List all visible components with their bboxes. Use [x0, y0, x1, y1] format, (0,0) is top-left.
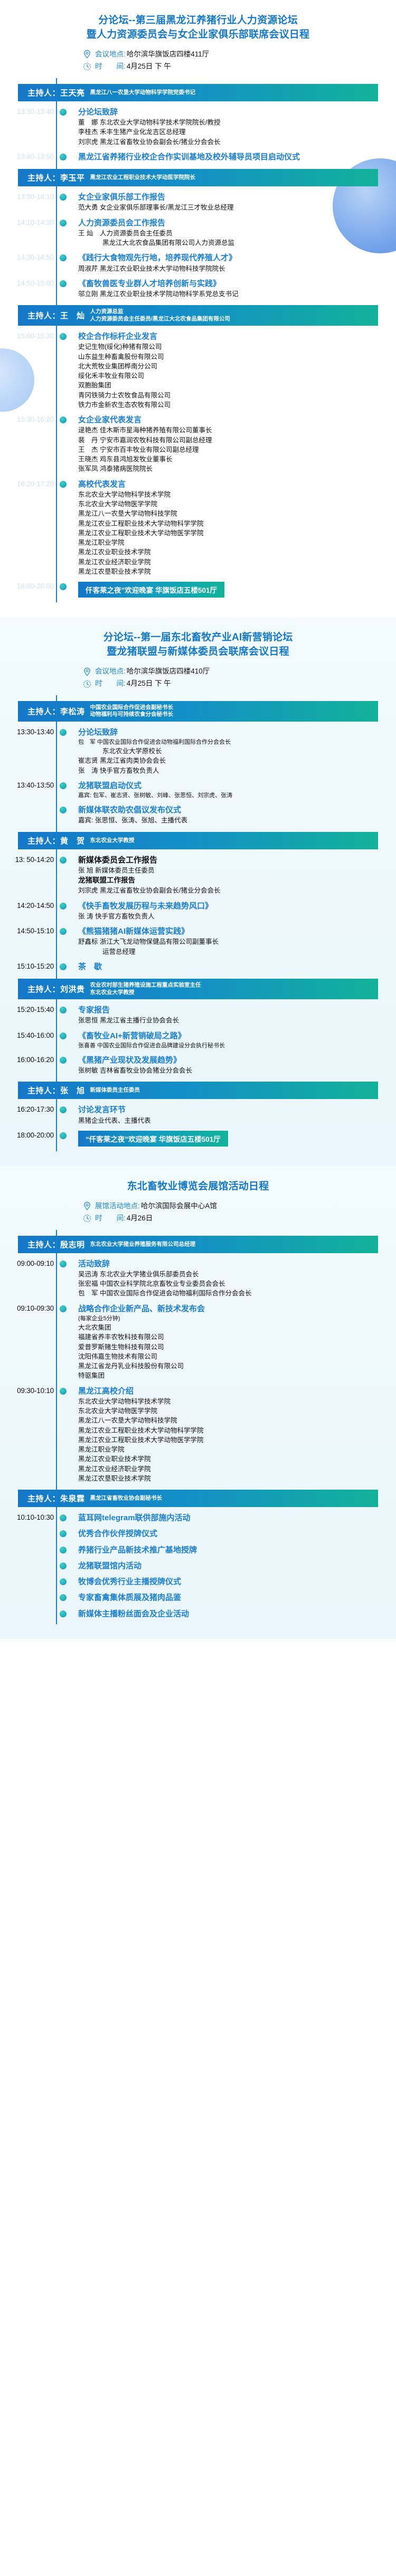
agenda-body: 牧博会优秀行业主播授牌仪式: [78, 1577, 388, 1587]
agenda-speaker: 沈阳伟嘉生物技术有限公司: [78, 1352, 388, 1361]
host-bar: 主持人：朱泉霖黑龙江省畜牧业协会副秘书长: [18, 1490, 378, 1507]
agenda-time: 09:00-09:10: [8, 1259, 54, 1267]
clock-icon: [82, 679, 92, 689]
host-bar: 主持人：刘洪贵农业农村部生猪养殖设施工程重点实验室主任东北农业大学教授: [18, 979, 378, 999]
section-meta: 会议地点:哈尔滨华旗饭店四楼410厅时 间:4月25日 下 午: [0, 665, 396, 695]
host-organization-line: 中国农业国际合作促进会副秘书长: [90, 704, 174, 711]
host-organization: 东北农业大学教授: [90, 837, 135, 844]
agenda-body: 《践行大食物观先行地，培养现代养殖人才》周淑芹 黑龙江农业职业技术大学动物科技学…: [78, 253, 388, 273]
agenda-speaker: 黑龙江八一农垦大学动物科技学院: [78, 509, 388, 518]
agenda-time: 15:30-16:20: [8, 415, 54, 423]
agenda-timeline: 主持人：李松涛中国农业国际合作促进会副秘书长动物福利与可持续农食分会秘书长13:…: [0, 695, 396, 1151]
agenda-speaker: 黑龙江八一农垦大学动物科技学院: [78, 1416, 388, 1425]
agenda-speaker: 黑龙江农垦职业技术学院: [78, 567, 388, 576]
agenda-title: 新媒体委员会工作报告: [78, 855, 388, 866]
agenda-time: 09:10-09:30: [8, 1304, 54, 1312]
agenda-speaker: 北大荒牧业集团桦南分公司: [78, 362, 388, 371]
meta-value: 4月25日 下 午: [127, 61, 171, 73]
agenda-time: 15:10-15:20: [8, 962, 54, 970]
timeline-dot-icon: [60, 280, 67, 287]
agenda-title: 高校代表发言: [78, 479, 388, 490]
agenda-row: 龙猪联盟馆内活动: [8, 1558, 388, 1574]
host-organization-line: 黑龙江农业工程职业技术大学动医学院院长: [90, 174, 196, 181]
section-title-line1: 东北畜牧业博览会展馆活动日程: [12, 1180, 384, 1194]
agenda-speaker: 东北农业大学动物科学技术学院: [78, 490, 388, 499]
agenda-body: 龙猪联盟馆内活动: [78, 1561, 388, 1571]
host-bar: 主持人：黄 贺东北农业大学教授: [18, 832, 378, 849]
agenda-title: 战略合作企业新产品、新技术发布会: [78, 1304, 388, 1314]
host-organization-line: 东北农业大学教授: [90, 837, 135, 844]
agenda-speaker: 张思恒 黑龙江省主播行业协会会长: [78, 1016, 388, 1025]
agenda-body: 蓝耳网telegram联供部施内活动: [78, 1513, 388, 1523]
timeline-dot-icon: [60, 1578, 67, 1585]
agenda-speaker: 东北农业大学动物科学技术学院: [78, 1397, 388, 1406]
agenda-body: 龙猪联盟启动仪式嘉宾: 包军、崔志贤、张树敏、刘峰、张思恒、刘宗虎、张涛: [78, 781, 388, 800]
agenda-speaker: 东北农业大学原校长: [78, 746, 388, 756]
agenda-time: 13:40-13:50: [8, 781, 54, 789]
agenda-body: “仟客莱之夜”欢迎晚宴 华旗饭店五楼501厅: [78, 1131, 388, 1147]
agenda-speaker: 裴 丹 宁安市嘉润农牧科技有限公司副总经理: [78, 435, 388, 445]
host-organization-line: 人力资源委员会主任委员/黑龙江大北农食品集团有限公司: [90, 316, 230, 323]
clock-icon: [82, 61, 92, 72]
agenda-row: 新媒体主播粉丝面会及企业活动: [8, 1606, 388, 1622]
host-organization-line: 黑龙江八一农垦大学动物科学学院党委书记: [90, 89, 196, 96]
timeline-dot-icon: [60, 729, 67, 736]
agenda-speaker: 逯艳杰 佳木斯市星海种猪养殖有限公司董事长: [78, 425, 388, 435]
agenda-speaker: 王晓杰 鸡东县鸿旭发牧业董事长: [78, 454, 388, 464]
clock-icon: [82, 1213, 92, 1224]
agenda-title: 《畜牧兽医专业群人才培养创新与实践》: [78, 279, 388, 289]
agenda-speaker: 绥化禾丰牧业有限公司: [78, 371, 388, 381]
agenda-time: 09:30-10:10: [8, 1386, 54, 1395]
agenda-title: 新媒体主播粉丝面会及企业活动: [78, 1609, 388, 1620]
timeline-dot-icon: [60, 1530, 67, 1537]
agenda-row: 16:00-16:20《黑猪产业现状及发展趋势》张树敏 吉林省畜牧业协会猪业分会…: [8, 1053, 388, 1078]
agenda-body: 人力资源委员会工作报告王 灿 人力资源委员会主任委员黑龙江大北农食品集团有限公司…: [78, 218, 388, 248]
section-title: 东北畜牧业博览会展馆活动日程: [0, 1166, 396, 1199]
timeline-dot-icon: [60, 1562, 67, 1569]
agenda-time: 10:10-10:30: [8, 1513, 54, 1521]
agenda-title: 龙猪联盟启动仪式: [78, 781, 388, 791]
agenda-row: 专家畜禽集体质展及猪肉品鉴: [8, 1590, 388, 1606]
agenda-time: 14:20-14:50: [8, 901, 54, 910]
agenda-body: 战略合作企业新产品、新技术发布会(每家企业5分钟)大北农集团福建省养丰农牧科技有…: [78, 1304, 388, 1381]
meta-label: 会议地点:: [95, 49, 126, 61]
section-meta: 会议地点:哈尔滨华旗饭店四楼411厅时 间:4月25日 下 午: [0, 48, 396, 78]
agenda-speaker: 黑龙江职业学院: [78, 538, 388, 547]
timeline-dot-icon: [60, 1033, 67, 1039]
agenda-row: 15:30-16:20女企业家代表发言逯艳杰 佳木斯市星海种猪养殖有限公司董事长…: [8, 412, 388, 477]
conference-agenda-page: 分论坛--第三届黑龙江养猪行业人力资源论坛暨人力资源委员会与女企业家俱乐部联席会…: [0, 0, 396, 1639]
agenda-speaker: 黑龙江农垦职业技术学院: [78, 1474, 388, 1483]
agenda-title: 《快手畜牧发展历程与未来趋势风口》: [78, 901, 388, 912]
agenda-speaker: 特驱集团: [78, 1371, 388, 1380]
agenda-time: 13:40-13:50: [8, 152, 54, 160]
agenda-body: 讨论发言环节黑猪企业代表、主播代表: [78, 1105, 388, 1125]
meta-row: 会议地点:哈尔滨华旗饭店四楼410厅: [0, 666, 396, 678]
agenda-time: [8, 805, 54, 806]
agenda-title: 新媒体联农助农倡议发布仪式: [78, 805, 388, 816]
agenda-section: 东北畜牧业博览会展馆活动日程展馆活动地点:哈尔滨国际会展中心A馆时 间:4月26…: [0, 1166, 396, 1639]
section-gap: [0, 1151, 396, 1163]
meta-value: 哈尔滨华旗饭店四楼411厅: [127, 49, 210, 61]
agenda-speaker: 包 军 中国农业国际合作促进会动物福利国际合作分会会长: [78, 738, 388, 746]
agenda-title: 茶 歇: [78, 962, 388, 972]
agenda-row: 牧博会优秀行业主播授牌仪式: [8, 1574, 388, 1590]
agenda-title: 女企业家代表发言: [78, 415, 388, 425]
agenda-speaker: 张 涛 快手官方畜牧负责人: [78, 912, 388, 921]
agenda-row: 15:20-15:40专家报告张思恒 黑龙江省主播行业协会会长: [8, 1002, 388, 1028]
agenda-speaker: 青冈铁骑力士农牧食品有限公司: [78, 391, 388, 400]
section-title-line2: 暨人力资源委员会与女企业家俱乐部联席会议日程: [12, 28, 384, 42]
agenda-body: 高校代表发言东北农业大学动物科学技术学院东北农业大学动物医学学院黑龙江八一农垦大…: [78, 479, 388, 577]
agenda-body: 专家报告张思恒 黑龙江省主播行业协会会长: [78, 1005, 388, 1026]
agenda-speaker: 张军凤 鸿泰猪病医院院长: [78, 464, 388, 473]
agenda-speaker: 运营总经理: [78, 947, 388, 956]
timeline-dot-icon: [60, 481, 67, 488]
agenda-speaker: 包 军 中国农业国际合作促进会动物福利国际合作分会会长: [78, 1289, 388, 1298]
agenda-title: 校企合作标杆企业发言: [78, 332, 388, 342]
agenda-row: 15:00-15:30校企合作标杆企业发言史记生物(绥化)种猪有限公司山东益生种…: [8, 329, 388, 412]
agenda-row: 15:10-15:20茶 歇: [8, 959, 388, 975]
agenda-time: 13:30-13:40: [8, 727, 54, 736]
agenda-body: 女企业家俱乐部工作报告范大勇 女企业家俱乐部理事长/黑龙江三才牧业总经理: [78, 192, 388, 213]
host-organization-line: 黑龙江省畜牧业协会副秘书长: [90, 1495, 163, 1502]
agenda-speaker: 范大勇 女企业家俱乐部理事长/黑龙江三才牧业总经理: [78, 203, 388, 212]
dinner-banner: “仟客莱之夜”欢迎晚宴 华旗饭店五楼501厅: [78, 1131, 228, 1147]
meta-row: 展馆活动地点:哈尔滨国际会展中心A馆: [0, 1200, 396, 1213]
agenda-speaker: 王 杰 宁安市百丰牧业有限公司副总经理: [78, 445, 388, 454]
timeline-dot-icon: [60, 1594, 67, 1601]
agenda-speaker: 黑龙江农业经济职业学院: [78, 557, 388, 567]
agenda-body: 黑龙江省养猪行业校企合作实训基地及校外辅导员项目启动仪式: [78, 152, 388, 163]
agenda-body: 活动致辞吴迅涛 东北农业大学猪业俱乐部委员会长张宏福 中国农业科学院北京畜牧业专…: [78, 1259, 388, 1299]
agenda-body: 校企合作标杆企业发言史记生物(绥化)种猪有限公司山东益生种畜禽股份有限公司北大荒…: [78, 332, 388, 410]
agenda-time: 13:50-14:10: [8, 192, 54, 201]
section-title-line1: 分论坛--第一届东北畜牧产业AI新营销论坛: [12, 631, 384, 645]
agenda-title: 《畜牧业AI+新营销破局之路》: [78, 1031, 388, 1041]
section-meta: 展馆活动地点:哈尔滨国际会展中心A馆时 间:4月26日: [0, 1199, 396, 1230]
section-gap: [0, 1624, 396, 1636]
timeline-dot-icon: [60, 1305, 67, 1312]
agenda-row: 13:30-13:40分论坛致辞董 娜 东北农业大学动物科学技术学院院长/教授李…: [8, 105, 388, 149]
agenda-speaker: 邬立刚 黑龙江农业职业技术学院动物科学系党总支书记: [78, 289, 388, 299]
agenda-speaker: 张喜善 中国农业国际合作促进会品牌建设分会执行秘书长: [78, 1041, 388, 1050]
host-bar: 主持人：李玉平黑龙江农业工程职业技术大学动医学院院长: [18, 169, 378, 186]
agenda-time: 14:30-14:50: [8, 253, 54, 261]
timeline-dot-icon: [60, 254, 67, 261]
host-organization-line: 动物福利与可持续农食分会秘书长: [90, 711, 174, 718]
agenda-time: [8, 1545, 54, 1546]
agenda-body: 新媒体委员会工作报告张 旭 新媒体委员主任委员龙猪联盟工作报告刘宗虎 黑龙江省畜…: [78, 855, 388, 896]
agenda-row: 13: 50-14:20新媒体委员会工作报告张 旭 新媒体委员主任委员龙猪联盟工…: [8, 853, 388, 898]
timeline-dot-icon: [60, 1611, 67, 1617]
agenda-speaker: 嘉宾: 张思恒、张涛、张旭、主播代表: [78, 816, 388, 825]
host-organization: 新媒体委员主任委员: [90, 1087, 140, 1094]
agenda-timeline: 主持人：殷志明东北农业大学猪业养殖服务有限公司总经理09:00-09:10活动致…: [0, 1230, 396, 1624]
agenda-time: 15:00-15:30: [8, 332, 54, 340]
agenda-speaker: 吴迅涛 东北农业大学猪业俱乐部委员会长: [78, 1270, 388, 1279]
agenda-row: 14:50-15:10《熊猫猪猪AI新媒体运营实践》舒鑫标 浙江大飞龙动物保健品…: [8, 924, 388, 959]
agenda-row: 新媒体联农助农倡议发布仪式嘉宾: 张思恒、张涛、张旭、主播代表: [8, 802, 388, 828]
agenda-title: 《熊猫猪猪AI新媒体运营实践》: [78, 926, 388, 937]
timeline-dot-icon: [60, 963, 67, 970]
location-pin-icon: [82, 1201, 92, 1211]
timeline-dot-icon: [60, 1132, 67, 1139]
section-title: 分论坛--第一届东北畜牧产业AI新营销论坛暨龙猪联盟与新媒体委员会联席会议日程: [0, 617, 396, 665]
agenda-row: 16:20-17:30讨论发言环节黑猪企业代表、主播代表: [8, 1102, 388, 1128]
timeline-dot-icon: [60, 583, 67, 590]
section-title-line2: 暨龙猪联盟与新媒体委员会联席会议日程: [12, 645, 384, 659]
agenda-body: 分论坛致辞包 军 中国农业国际合作促进会动物福利国际合作分会会长东北农业大学原校…: [78, 727, 388, 775]
agenda-row: 14:10-14:30人力资源委员会工作报告王 灿 人力资源委员会主任委员黑龙江…: [8, 215, 388, 251]
agenda-body: 分论坛致辞董 娜 东北农业大学动物科学技术学院院长/教授李桂杰 禾丰生猪产业化龙…: [78, 107, 388, 147]
agenda-body: 新媒体主播粉丝面会及企业活动: [78, 1609, 388, 1620]
agenda-speaker: 黑龙江农业工程职业技术大学动物医学学院: [78, 528, 388, 538]
meta-row: 会议地点:哈尔滨华旗饭店四楼411厅: [0, 49, 396, 61]
host-organization: 农业农村部生猪养殖设施工程重点实验室主任东北农业大学教授: [90, 982, 201, 996]
agenda-banner-row: 18:00-20:00“仟客莱之夜”欢迎晚宴 华旗饭店五楼501厅: [8, 1128, 388, 1149]
agenda-speaker: 王 灿 人力资源委员会主任委员: [78, 229, 388, 238]
agenda-speaker: 山东益生种畜禽股份有限公司: [78, 352, 388, 362]
agenda-speaker: 张 涛 快手官方畜牧负责人: [78, 766, 388, 775]
agenda-row: 13:40-13:50龙猪联盟启动仪式嘉宾: 包军、崔志贤、张树敏、刘峰、张思恒…: [8, 778, 388, 802]
agenda-speaker: 崔志贤 黑龙江省肉类协会会长: [78, 756, 388, 765]
agenda-speaker: 黑猪企业代表、主播代表: [78, 1116, 388, 1125]
timeline-dot-icon: [60, 194, 67, 201]
host-organization: 东北农业大学猪业养殖服务有限公司总经理: [90, 1241, 196, 1248]
agenda-speaker: 李桂杰 禾丰生猪产业化龙吉区总经理: [78, 127, 388, 137]
timeline-dot-icon: [60, 782, 67, 789]
agenda-title: 活动致辞: [78, 1259, 388, 1270]
timeline-dot-icon: [60, 416, 67, 423]
meta-row: 时 间:4月25日 下 午: [0, 61, 396, 73]
agenda-time: 14:50-15:10: [8, 926, 54, 935]
agenda-row: 13:40-13:50黑龙江省养猪行业校企合作实训基地及校外辅导员项目启动仪式: [8, 149, 388, 165]
agenda-time: [8, 1609, 54, 1609]
host-bar: 主持人：李松涛中国农业国际合作促进会副秘书长动物福利与可持续农食分会秘书长: [18, 701, 378, 722]
agenda-title: 龙猪联盟馆内活动: [78, 1561, 388, 1571]
agenda-speaker: 黑龙江农业职业技术学院: [78, 547, 388, 557]
agenda-time: [8, 1529, 54, 1529]
agenda-time: 16:00-16:20: [8, 1055, 54, 1064]
agenda-body: 《畜牧兽医专业群人才培养创新与实践》邬立刚 黑龙江农业职业技术学院动物科学系党总…: [78, 279, 388, 299]
host-organization-line: 东北农业大学猪业养殖服务有限公司总经理: [90, 1241, 196, 1248]
agenda-body: 优秀合作伙伴授牌仪式: [78, 1529, 388, 1539]
host-organization: 黑龙江八一农垦大学动物科学学院党委书记: [90, 89, 196, 96]
timeline-dot-icon: [60, 1261, 67, 1267]
agenda-time: [8, 1577, 54, 1577]
agenda-body: 《畜牧业AI+新营销破局之路》张喜善 中国农业国际合作促进会品牌建设分会执行秘书…: [78, 1031, 388, 1050]
agenda-speaker: 铁力市金新农生态农牧有限公司: [78, 400, 388, 410]
timeline-dot-icon: [60, 1388, 67, 1395]
agenda-title: 女企业家俱乐部工作报告: [78, 192, 388, 203]
agenda-time: 14:10-14:30: [8, 218, 54, 226]
agenda-row: 16:20-17:20高校代表发言东北农业大学动物科学技术学院东北农业大学动物医…: [8, 477, 388, 580]
meta-label: 时 间:: [95, 1213, 126, 1225]
agenda-row: 14:20-14:50《快手畜牧发展历程与未来趋势风口》张 涛 快手官方畜牧负责…: [8, 898, 388, 924]
agenda-time: 15:20-15:40: [8, 1005, 54, 1014]
agenda-speaker: 东北农业大学动物医学学院: [78, 499, 388, 509]
agenda-row: 09:10-09:30战略合作企业新产品、新技术发布会(每家企业5分钟)大北农集…: [8, 1301, 388, 1384]
section-gap: [0, 602, 396, 614]
host-organization-line: 人力资源总监: [90, 308, 230, 315]
meta-label: 时 间:: [95, 678, 126, 690]
host-bar: 主持人：殷志明东北农业大学猪业养殖服务有限公司总经理: [18, 1236, 378, 1253]
meta-value: 哈尔滨国际会展中心A馆: [141, 1200, 217, 1213]
timeline-dot-icon: [60, 857, 67, 864]
agenda-time: 16:20-17:20: [8, 479, 54, 488]
location-pin-icon: [82, 49, 92, 60]
agenda-title: 黑龙江高校介绍: [78, 1386, 388, 1397]
timeline-dot-icon: [60, 1106, 67, 1113]
agenda-speaker: 史记生物(绥化)种猪有限公司: [78, 342, 388, 352]
agenda-title: 分论坛致辞: [78, 107, 388, 118]
host-organization-line: 新媒体委员主任委员: [90, 1087, 140, 1094]
timeline-dot-icon: [60, 807, 67, 813]
agenda-row: 14:30-14:50《践行大食物观先行地，培养现代养殖人才》周淑芹 黑龙江农业…: [8, 250, 388, 276]
agenda-speaker: 黑龙江农业工程职业技术大学动物医学学院: [78, 1435, 388, 1445]
host-organization: 中国农业国际合作促进会副秘书长动物福利与可持续农食分会秘书长: [90, 704, 174, 718]
agenda-banner-row: 18:00-20:00仟客莱之夜”欢迎晚宴 华旗饭店五楼501厅: [8, 579, 388, 600]
agenda-speaker: 周淑芹 黑龙江农业职业技术大学动物科技学院院长: [78, 264, 388, 273]
timeline-dot-icon: [60, 109, 67, 116]
agenda-speaker: 张 旭 新媒体委员主任委员: [78, 866, 388, 875]
agenda-row: 13:50-14:10女企业家俱乐部工作报告范大勇 女企业家俱乐部理事长/黑龙江…: [8, 190, 388, 215]
agenda-speaker: (每家企业5分钟): [78, 1314, 388, 1323]
agenda-speaker: 张宏福 中国农业科学院北京畜牧业专业委员会会长: [78, 1279, 388, 1289]
host-organization: 黑龙江省畜牧业协会副秘书长: [90, 1495, 163, 1502]
agenda-title: 《践行大食物观先行地，培养现代养殖人才》: [78, 253, 388, 263]
agenda-speaker: 黑龙江农业工程职业技术大学动物科学学院: [78, 1426, 388, 1435]
agenda-time: 15:40-16:00: [8, 1031, 54, 1039]
agenda-time: 13:30-13:40: [8, 107, 54, 116]
agenda-row: 优秀合作伙伴授牌仪式: [8, 1526, 388, 1542]
agenda-row: 14:50-15:00《畜牧兽医专业群人才培养创新与实践》邬立刚 黑龙江农业职业…: [8, 276, 388, 302]
agenda-row: 09:00-09:10活动致辞吴迅涛 东北农业大学猪业俱乐部委员会长张宏福 中国…: [8, 1256, 388, 1301]
agenda-section: 分论坛--第三届黑龙江养猪行业人力资源论坛暨人力资源委员会与女企业家俱乐部联席会…: [0, 0, 396, 617]
agenda-body: 专家畜禽集体质展及猪肉品鉴: [78, 1593, 388, 1603]
agenda-speaker: 刘宗虎 黑龙江省畜牧业协会副会长/猪业分会会长: [78, 886, 388, 895]
timeline-dot-icon: [60, 1514, 67, 1521]
meta-value: 4月26日: [127, 1213, 153, 1225]
host-bar: 主持人：王天亮黑龙江八一农垦大学动物科学学院党委书记: [18, 84, 378, 101]
agenda-body: 新媒体联农助农倡议发布仪式嘉宾: 张思恒、张涛、张旭、主播代表: [78, 805, 388, 826]
agenda-title: 专家畜禽集体质展及猪肉品鉴: [78, 1593, 388, 1603]
agenda-speaker: 黑龙江农业经济职业学院: [78, 1464, 388, 1474]
timeline-dot-icon: [60, 154, 67, 160]
agenda-speaker: 福建省养丰农牧科技有限公司: [78, 1332, 388, 1342]
agenda-body: 黑龙江高校介绍东北农业大学动物科学技术学院东北农业大学动物医学学院黑龙江八一农垦…: [78, 1386, 388, 1484]
agenda-title: 黑龙江省养猪行业校企合作实训基地及校外辅导员项目启动仪式: [78, 152, 388, 163]
agenda-speaker: 刘宗虎 黑龙江省畜牧业协会副会长/猪业分会会长: [78, 137, 388, 147]
agenda-speaker: 嘉宾: 包军、崔志贤、张树敏、刘峰、张思恒、刘宗虎、张涛: [78, 791, 388, 800]
agenda-speaker: 黑龙江省龙丹乳业科技股份有限公司: [78, 1361, 388, 1371]
agenda-speaker: 黑龙江农业工程职业技术大学动物科学学院: [78, 519, 388, 528]
agenda-body: 《快手畜牧发展历程与未来趋势风口》张 涛 快手官方畜牧负责人: [78, 901, 388, 922]
timeline-dot-icon: [60, 1547, 67, 1554]
agenda-time: [8, 1561, 54, 1561]
agenda-body: 仟客莱之夜”欢迎晚宴 华旗饭店五楼501厅: [78, 582, 388, 598]
agenda-speaker: 张树敏 吉林省畜牧业协会猪业分会会长: [78, 1066, 388, 1075]
agenda-speaker: 黑龙江农业职业技术学院: [78, 1454, 388, 1464]
agenda-section: 分论坛--第一届东北畜牧产业AI新营销论坛暨龙猪联盟与新媒体委员会联席会议日程会…: [0, 617, 396, 1166]
agenda-body: 《黑猪产业现状及发展趋势》张树敏 吉林省畜牧业协会猪业分会会长: [78, 1055, 388, 1076]
meta-value: 4月25日 下 午: [127, 678, 171, 690]
agenda-title: 《黑猪产业现状及发展趋势》: [78, 1055, 388, 1066]
meta-label: 时 间:: [95, 61, 126, 73]
sections-root: 分论坛--第三届黑龙江养猪行业人力资源论坛暨人力资源委员会与女企业家俱乐部联席会…: [0, 0, 396, 1639]
agenda-speaker: 黑龙江职业学院: [78, 1445, 388, 1454]
agenda-speaker: 大北农集团: [78, 1323, 388, 1332]
agenda-time: [8, 1593, 54, 1593]
agenda-row: 养猪行业产品新技术推广基地授牌: [8, 1542, 388, 1558]
agenda-time: 18:00-20:00: [8, 1131, 54, 1139]
agenda-time: 18:00-20:00: [8, 582, 54, 590]
agenda-title: 养猪行业产品新技术推广基地授牌: [78, 1545, 388, 1556]
meta-label: 会议地点:: [95, 666, 126, 678]
meta-label: 展馆活动地点:: [95, 1200, 140, 1213]
host-organization-line: 农业农村部生猪养殖设施工程重点实验室主任: [90, 982, 201, 989]
agenda-time: 16:20-17:30: [8, 1105, 54, 1113]
timeline-dot-icon: [60, 1057, 67, 1064]
host-bar: 主持人：张 旭新媒体委员主任委员: [18, 1082, 378, 1099]
timeline-dot-icon: [60, 903, 67, 910]
location-pin-icon: [82, 667, 92, 677]
agenda-time: 14:50-15:00: [8, 279, 54, 287]
host-organization-line: 东北农业大学教授: [90, 989, 201, 996]
agenda-title: 蓝耳网telegram联供部施内活动: [78, 1513, 388, 1523]
dinner-banner: 仟客莱之夜”欢迎晚宴 华旗饭店五楼501厅: [78, 582, 224, 598]
agenda-speaker: 爱普罗斯赌生物科技有限公司: [78, 1342, 388, 1352]
meta-row: 时 间:4月26日: [0, 1213, 396, 1225]
agenda-title: 讨论发言环节: [78, 1105, 388, 1115]
agenda-speaker: 黑龙江大北农食品集团有限公司人力资源总监: [78, 238, 388, 248]
agenda-row: 09:30-10:10黑龙江高校介绍东北农业大学动物科学技术学院东北农业大学动物…: [8, 1384, 388, 1486]
meta-value: 哈尔滨华旗饭店四楼410厅: [127, 666, 210, 678]
host-organization: 人力资源总监人力资源委员会主任委员/黑龙江大北农食品集团有限公司: [90, 308, 230, 323]
host-organization: 黑龙江农业工程职业技术大学动医学院院长: [90, 174, 196, 181]
agenda-time: 13: 50-14:20: [8, 855, 54, 864]
agenda-speaker: 龙猪联盟工作报告: [78, 875, 388, 886]
agenda-speaker: 舒鑫标 浙江大飞龙动物保健品有限公司副董事长: [78, 937, 388, 946]
timeline-dot-icon: [60, 220, 67, 226]
agenda-row: 15:40-16:00《畜牧业AI+新营销破局之路》张喜善 中国农业国际合作促进…: [8, 1028, 388, 1053]
timeline-dot-icon: [60, 928, 67, 935]
agenda-speaker: 董 娜 东北农业大学动物科学技术学院院长/教授: [78, 118, 388, 127]
agenda-title: 人力资源委员会工作报告: [78, 218, 388, 229]
agenda-title: 专家报告: [78, 1005, 388, 1016]
host-bar: 主持人：王 灿人力资源总监人力资源委员会主任委员/黑龙江大北农食品集团有限公司: [18, 305, 378, 326]
agenda-title: 优秀合作伙伴授牌仪式: [78, 1529, 388, 1539]
agenda-title: 牧博会优秀行业主播授牌仪式: [78, 1577, 388, 1587]
timeline-dot-icon: [60, 333, 67, 340]
meta-row: 时 间:4月25日 下 午: [0, 678, 396, 690]
agenda-timeline: 主持人：王天亮黑龙江八一农垦大学动物科学学院党委书记13:30-13:40分论坛…: [0, 78, 396, 602]
agenda-title: 分论坛致辞: [78, 727, 388, 738]
section-title: 分论坛--第三届黑龙江养猪行业人力资源论坛暨人力资源委员会与女企业家俱乐部联席会…: [0, 0, 396, 48]
agenda-body: 女企业家代表发言逯艳杰 佳木斯市星海种猪养殖有限公司董事长裴 丹 宁安市嘉润农牧…: [78, 415, 388, 474]
agenda-body: 《熊猫猪猪AI新媒体运营实践》舒鑫标 浙江大飞龙动物保健品有限公司副董事长运营总…: [78, 926, 388, 956]
timeline-dot-icon: [60, 1007, 67, 1014]
agenda-row: 10:10-10:30蓝耳网telegram联供部施内活动: [8, 1510, 388, 1526]
agenda-speaker: 东北农业大学动物医学学院: [78, 1406, 388, 1416]
section-title-line1: 分论坛--第三届黑龙江养猪行业人力资源论坛: [12, 14, 384, 28]
agenda-body: 茶 歇: [78, 962, 388, 972]
agenda-speaker: 双胞胎集团: [78, 381, 388, 390]
agenda-row: 13:30-13:40分论坛致辞包 军 中国农业国际合作促进会动物福利国际合作分…: [8, 725, 388, 778]
agenda-body: 养猪行业产品新技术推广基地授牌: [78, 1545, 388, 1556]
